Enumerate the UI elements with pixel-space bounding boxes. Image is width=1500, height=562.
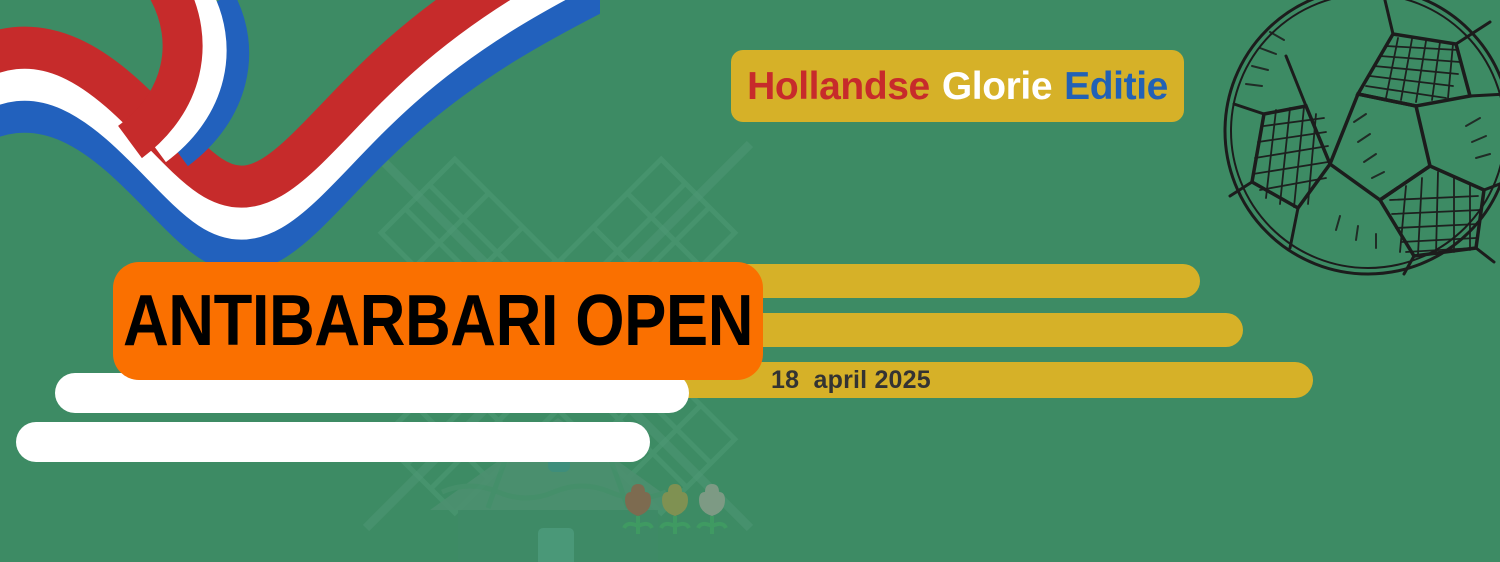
soccer-ball-sketch <box>1208 0 1500 286</box>
event-title-plate: ANTIBARBARI OPEN <box>113 262 763 380</box>
event-banner: 18 april 2025 ANTIBARBARI OPEN Hollandse… <box>0 0 1500 562</box>
tulip-group <box>624 484 726 534</box>
badge-word-glorie: Glorie <box>942 67 1052 106</box>
edition-badge: Hollandse Glorie Editie <box>731 50 1184 122</box>
badge-word-hollandse: Hollandse <box>747 67 930 106</box>
badge-word-editie: Editie <box>1064 67 1168 106</box>
page-title: ANTIBARBARI OPEN <box>123 285 753 357</box>
event-date: 18 april 2025 <box>771 366 931 395</box>
dutch-flag-ribbon <box>0 0 600 270</box>
white-bar-2 <box>16 422 650 462</box>
